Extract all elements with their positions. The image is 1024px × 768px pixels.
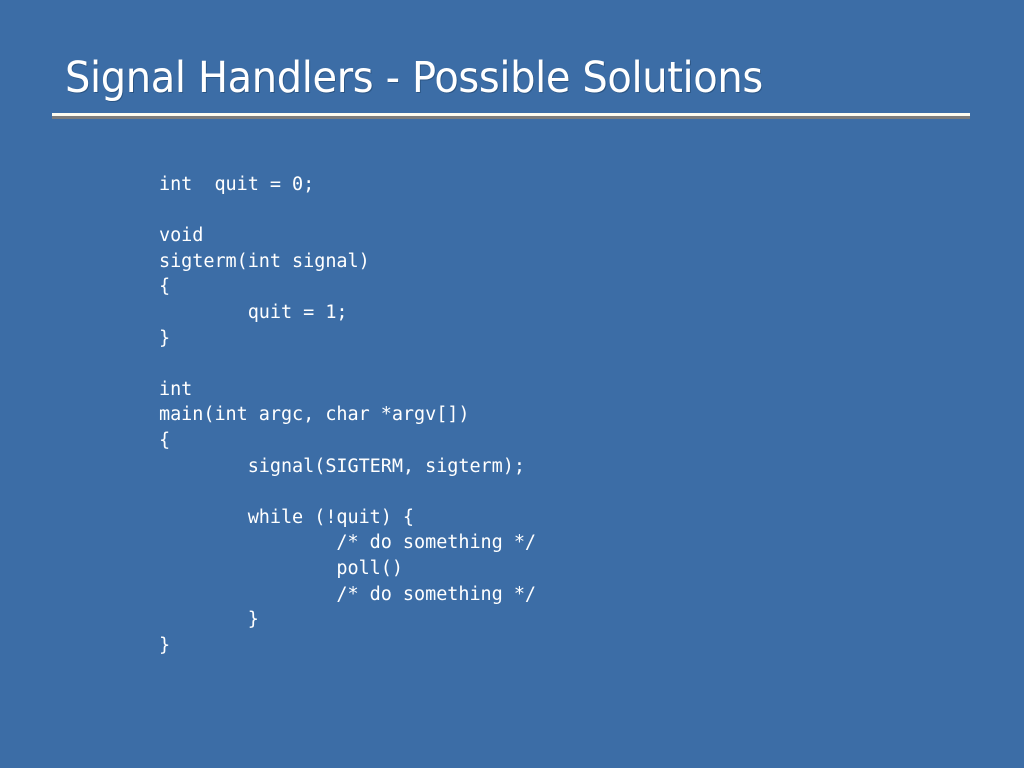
- code-line: void: [159, 223, 536, 249]
- code-line: /* do something */: [159, 582, 536, 608]
- code-line: poll(): [159, 556, 536, 582]
- code-line: while (!quit) {: [159, 505, 536, 531]
- code-line: }: [159, 326, 536, 352]
- code-line: quit = 1;: [159, 300, 536, 326]
- code-listing: int quit = 0; voidsigterm(int signal){ q…: [159, 172, 536, 658]
- code-line: {: [159, 274, 536, 300]
- code-line: signal(SIGTERM, sigterm);: [159, 454, 536, 480]
- slide: Signal Handlers - Possible Solutions int…: [0, 0, 1024, 768]
- title-divider-shadow: [52, 116, 970, 119]
- code-line: [159, 479, 536, 505]
- code-line: [159, 198, 536, 224]
- code-line: int: [159, 377, 536, 403]
- code-line: sigterm(int signal): [159, 249, 536, 275]
- code-line: main(int argc, char *argv[]): [159, 402, 536, 428]
- code-line: }: [159, 607, 536, 633]
- page-title: Signal Handlers - Possible Solutions: [65, 52, 763, 104]
- code-line: {: [159, 428, 536, 454]
- code-line: int quit = 0;: [159, 172, 536, 198]
- code-line: /* do something */: [159, 530, 536, 556]
- code-line: [159, 351, 536, 377]
- title-divider: [52, 113, 970, 119]
- code-line: }: [159, 633, 536, 659]
